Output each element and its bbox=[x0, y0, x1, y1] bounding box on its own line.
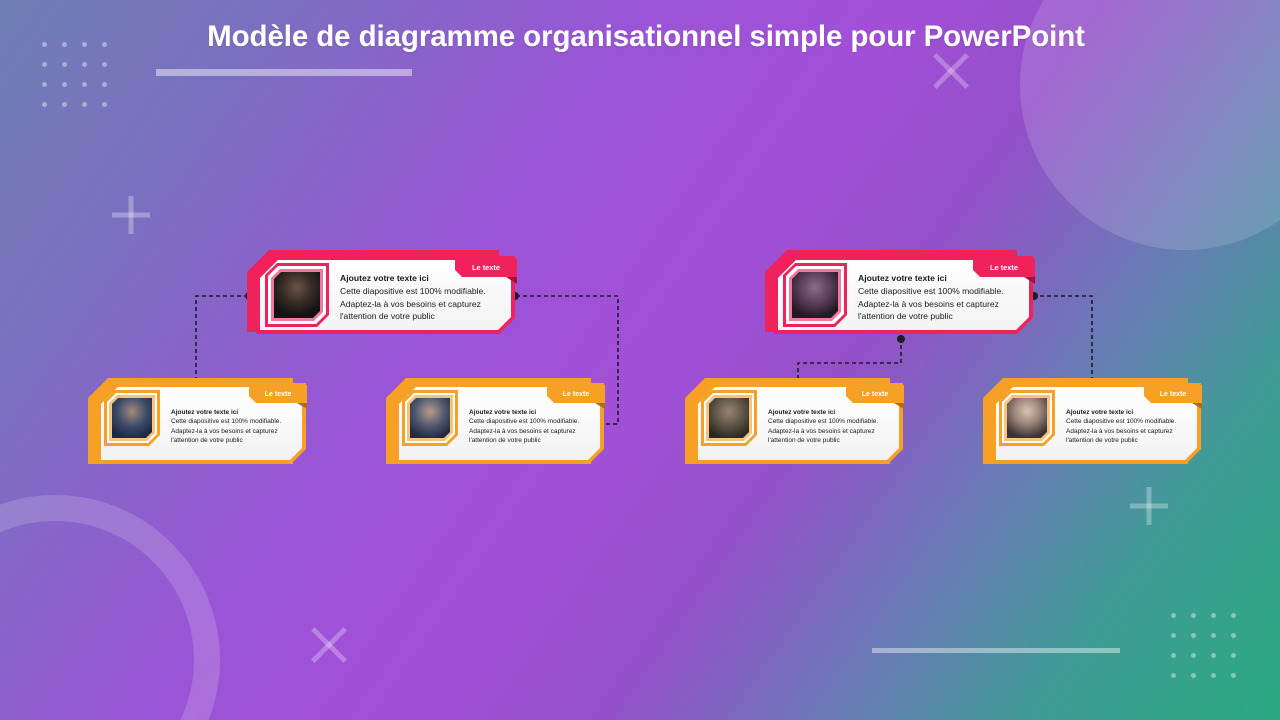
badge-label[interactable]: Le texte bbox=[846, 385, 904, 403]
org-node-bottom-3[interactable]: Le texte Ajoutez votre texte ici Cette d… bbox=[685, 378, 903, 470]
avatar bbox=[265, 263, 329, 327]
card-body: Cette diapositive est 100% modifiable. A… bbox=[469, 417, 595, 445]
badge-label[interactable]: Le texte bbox=[249, 385, 307, 403]
card-title: Ajoutez votre texte ici bbox=[469, 408, 595, 417]
card-text: Ajoutez votre texte ici Cette diapositiv… bbox=[469, 408, 595, 446]
card-text: Ajoutez votre texte ici Cette diapositiv… bbox=[171, 408, 297, 446]
card-text: Ajoutez votre texte ici Cette diapositiv… bbox=[858, 272, 1030, 323]
card-body: Cette diapositive est 100% modifiable. A… bbox=[171, 417, 297, 445]
avatar bbox=[999, 390, 1055, 446]
badge-label[interactable]: Le texte bbox=[455, 258, 517, 277]
card-title: Ajoutez votre texte ici bbox=[768, 408, 894, 417]
card-body: Cette diapositive est 100% modifiable. A… bbox=[1066, 417, 1192, 445]
org-node-top-left[interactable]: Le texte Ajoutez votre texte ici Cette d… bbox=[247, 250, 515, 340]
badge-label[interactable]: Le texte bbox=[547, 385, 605, 403]
org-node-top-right[interactable]: Le texte Ajoutez votre texte ici Cette d… bbox=[765, 250, 1033, 340]
avatar-image bbox=[274, 272, 320, 318]
card-body: Cette diapositive est 100% modifiable. A… bbox=[340, 285, 512, 323]
avatar bbox=[783, 263, 847, 327]
avatar-image bbox=[112, 398, 152, 438]
card-title: Ajoutez votre texte ici bbox=[1066, 408, 1192, 417]
avatar bbox=[701, 390, 757, 446]
avatar bbox=[402, 390, 458, 446]
badge-label[interactable]: Le texte bbox=[1144, 385, 1202, 403]
avatar-image bbox=[410, 398, 450, 438]
org-node-bottom-1[interactable]: Le texte Ajoutez votre texte ici Cette d… bbox=[88, 378, 306, 470]
org-node-bottom-4[interactable]: Le texte Ajoutez votre texte ici Cette d… bbox=[983, 378, 1201, 470]
badge-label[interactable]: Le texte bbox=[973, 258, 1035, 277]
connector-lines bbox=[0, 0, 1280, 720]
card-title: Ajoutez votre texte ici bbox=[171, 408, 297, 417]
avatar-image bbox=[1007, 398, 1047, 438]
avatar-image bbox=[709, 398, 749, 438]
card-text: Ajoutez votre texte ici Cette diapositiv… bbox=[768, 408, 894, 446]
card-text: Ajoutez votre texte ici Cette diapositiv… bbox=[1066, 408, 1192, 446]
avatar-image bbox=[792, 272, 838, 318]
avatar bbox=[104, 390, 160, 446]
card-body: Cette diapositive est 100% modifiable. A… bbox=[768, 417, 894, 445]
card-text: Ajoutez votre texte ici Cette diapositiv… bbox=[340, 272, 512, 323]
card-body: Cette diapositive est 100% modifiable. A… bbox=[858, 285, 1030, 323]
org-node-bottom-2[interactable]: Le texte Ajoutez votre texte ici Cette d… bbox=[386, 378, 604, 470]
